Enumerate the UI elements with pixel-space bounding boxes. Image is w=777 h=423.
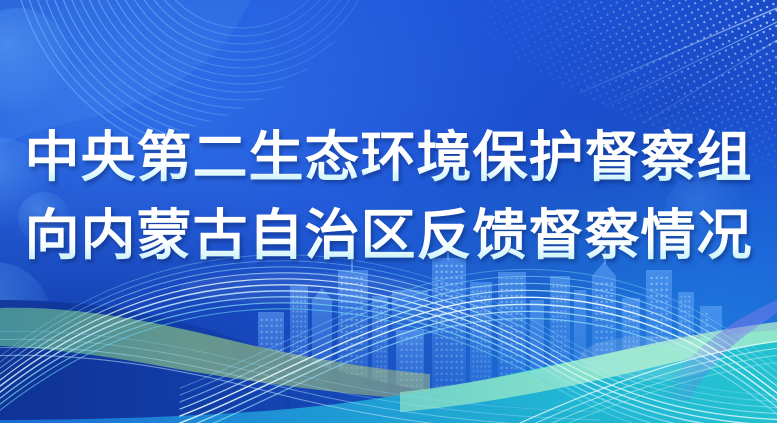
news-banner: 中央第二生态环境保护督察组 向内蒙古自治区反馈督察情况: [0, 0, 777, 423]
bottom-wave-decoration: [0, 0, 777, 423]
